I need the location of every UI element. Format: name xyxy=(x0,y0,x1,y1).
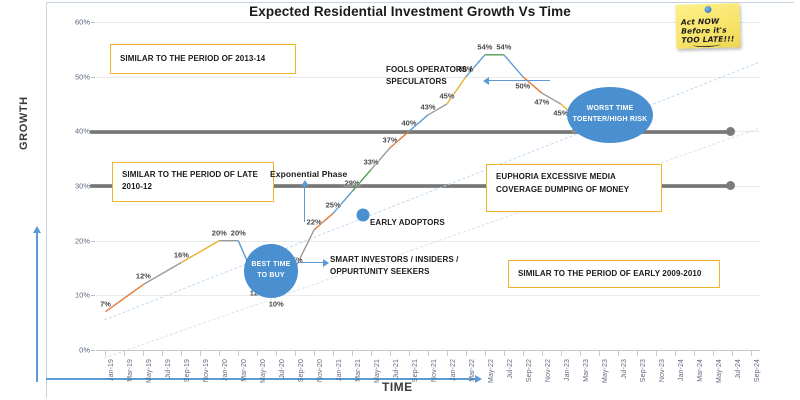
x-tick-mark xyxy=(162,351,163,356)
x-tick-label: Mar-24 xyxy=(697,359,704,382)
x-tick-mark xyxy=(713,351,714,356)
x-tick-label: Jan-22 xyxy=(450,359,457,381)
x-tick-label: May-23 xyxy=(602,359,609,383)
x-tick-label: Mar-23 xyxy=(583,359,590,382)
x-tick-label: Jan-19 xyxy=(108,359,115,381)
data-point-label: 25% xyxy=(326,201,341,210)
x-tick-label: Jan-21 xyxy=(336,359,343,381)
x-tick-label: Jul-24 xyxy=(735,359,742,379)
y-tick-label: 0% xyxy=(79,346,90,355)
x-tick-mark xyxy=(181,351,182,356)
data-point-label: 54% xyxy=(496,42,511,51)
marker-early-adoptors xyxy=(357,209,370,222)
x-tick-label: Jul-23 xyxy=(621,359,628,379)
x-tick-mark xyxy=(143,351,144,356)
connector-fools-operators xyxy=(488,80,550,81)
x-tick-label: Sep-19 xyxy=(184,359,191,382)
y-tick-mark xyxy=(91,295,95,296)
chart-screenshot: Expected Residential Investment Growth V… xyxy=(0,0,800,400)
x-tick-label: Sep-23 xyxy=(640,359,647,382)
x-tick-label: Nov-23 xyxy=(659,359,666,382)
x-tick-mark xyxy=(219,351,220,356)
x-tick-mark xyxy=(447,351,448,356)
support-bar-upper-cap xyxy=(726,127,735,136)
data-point-label: 54% xyxy=(477,42,492,51)
data-point-label: 40% xyxy=(402,119,417,128)
gridline xyxy=(96,241,760,242)
callout-similar-2013-14: SIMILAR TO THE PERIOD OF 2013-14 xyxy=(110,44,296,74)
x-tick-label: Nov-19 xyxy=(203,359,210,382)
gridline xyxy=(96,22,760,23)
x-tick-mark xyxy=(751,351,752,356)
x-tick-mark xyxy=(200,351,201,356)
support-bar-lower-cap xyxy=(726,181,735,190)
x-tick-mark xyxy=(390,351,391,356)
x-tick-label: May-22 xyxy=(488,359,495,383)
growth-axis-arrow xyxy=(36,232,38,382)
sticky-note: Act NOW Before it's TOO LATE!!! xyxy=(675,3,740,49)
data-point-label: 20% xyxy=(231,228,246,237)
y-tick-mark xyxy=(91,22,95,23)
y-tick-label: 40% xyxy=(75,127,90,136)
x-tick-mark xyxy=(618,351,619,356)
y-tick-label: 20% xyxy=(75,236,90,245)
x-tick-label: Jan-24 xyxy=(678,359,685,381)
data-point-label: 10% xyxy=(269,300,284,309)
x-tick-mark xyxy=(124,351,125,356)
data-point-label: 22% xyxy=(307,217,322,226)
x-tick-label: Mar-19 xyxy=(127,359,134,382)
x-tick-label: Jan-20 xyxy=(222,359,229,381)
x-axis-title: TIME xyxy=(382,380,413,394)
pin-icon xyxy=(704,6,711,13)
x-tick-mark xyxy=(485,351,486,356)
x-tick-label: Sep-21 xyxy=(412,359,419,382)
y-tick-label: 50% xyxy=(75,72,90,81)
callout-euphoria: EUPHORIA EXCESSIVE MEDIA COVERAGE DUMPIN… xyxy=(486,164,662,212)
callout-similar-early-2009-2010: SIMILAR TO THE PERIOD OF EARLY 2009-2010 xyxy=(508,260,720,288)
x-tick-mark xyxy=(599,351,600,356)
y-tick-label: 60% xyxy=(75,18,90,27)
x-tick-label: Jul-19 xyxy=(165,359,172,379)
x-tick-mark xyxy=(580,351,581,356)
x-tick-mark xyxy=(276,351,277,356)
x-tick-label: Sep-22 xyxy=(526,359,533,382)
x-tick-label: May-20 xyxy=(260,359,267,383)
x-tick-mark xyxy=(314,351,315,356)
x-tick-label: Mar-22 xyxy=(469,359,476,382)
y-tick-label: 10% xyxy=(75,291,90,300)
x-tick-mark xyxy=(675,351,676,356)
data-point-label: 43% xyxy=(420,102,435,111)
x-tick-label: Jul-21 xyxy=(393,359,400,379)
callout-similar-late-2010-12: SIMILAR TO THE PERIOD OF LATE 2010-12 xyxy=(112,162,274,202)
data-point-label: 16% xyxy=(174,250,189,259)
x-tick-label: Sep-20 xyxy=(298,359,305,382)
x-tick-mark xyxy=(504,351,505,356)
data-point-label: 20% xyxy=(212,228,227,237)
data-point-label: 33% xyxy=(364,157,379,166)
x-tick-mark xyxy=(466,351,467,356)
data-point-label: 37% xyxy=(383,135,398,144)
sticky-note-underline xyxy=(692,42,720,48)
x-tick-label: Nov-21 xyxy=(431,359,438,382)
x-tick-mark xyxy=(295,351,296,356)
connector-exponential-phase xyxy=(304,186,305,222)
x-tick-label: May-21 xyxy=(374,359,381,383)
x-tick-label: Jul-22 xyxy=(507,359,514,379)
x-tick-mark xyxy=(694,351,695,356)
annotation-early-adoptors: EARLY ADOPTORS xyxy=(370,217,445,229)
x-tick-mark xyxy=(333,351,334,356)
x-tick-mark xyxy=(656,351,657,356)
gridline xyxy=(96,295,760,296)
data-point-label: 12% xyxy=(136,272,151,281)
data-point-label: 45% xyxy=(439,92,454,101)
x-tick-mark xyxy=(561,351,562,356)
data-point-label: 47% xyxy=(534,98,549,107)
data-point-label: 50% xyxy=(515,81,530,90)
x-tick-mark xyxy=(428,351,429,356)
x-tick-mark xyxy=(732,351,733,356)
x-tick-mark xyxy=(523,351,524,356)
x-tick-mark xyxy=(542,351,543,356)
x-tick-label: Nov-20 xyxy=(317,359,324,382)
x-tick-mark xyxy=(257,351,258,356)
x-tick-label: Nov-22 xyxy=(545,359,552,382)
annotation-exponential-phase: Exponential Phase xyxy=(270,168,347,180)
connector-smart-investors xyxy=(298,262,324,263)
x-tick-label: Sep-24 xyxy=(754,359,761,382)
y-axis-title: GROWTH xyxy=(18,96,30,150)
bubble-best-time-to-buy: BEST TIME TO BUY xyxy=(244,244,298,298)
x-tick-label: Jan-23 xyxy=(564,359,571,381)
x-axis: Jan-19Mar-19May-19Jul-19Sep-19Nov-19Jan-… xyxy=(96,350,760,353)
y-tick-mark xyxy=(91,77,95,78)
y-tick-mark xyxy=(91,350,95,351)
x-tick-label: May-19 xyxy=(146,359,153,383)
x-tick-mark xyxy=(637,351,638,356)
x-tick-label: Jul-20 xyxy=(279,359,286,379)
x-tick-label: Mar-20 xyxy=(241,359,248,382)
y-tick-label: 30% xyxy=(75,182,90,191)
y-tick-mark xyxy=(91,241,95,242)
annotation-fools-operators: FOOLS OPERATORS / SPECULATORS xyxy=(386,64,472,87)
x-tick-label: May-24 xyxy=(716,359,723,383)
annotation-smart-investors: SMART INVESTORS / INSIDERS / OPPURTUNITY… xyxy=(330,254,458,277)
x-tick-mark xyxy=(105,351,106,356)
x-tick-label: Mar-21 xyxy=(355,359,362,382)
x-tick-mark xyxy=(371,351,372,356)
x-tick-mark xyxy=(238,351,239,356)
data-point-label: 7% xyxy=(100,299,111,308)
bubble-worst-time-to-enter: WORST TIME TOENTER/HIGH RISK xyxy=(567,87,653,143)
page-title: Expected Residential Investment Growth V… xyxy=(200,4,620,19)
x-tick-mark xyxy=(409,351,410,356)
x-tick-mark xyxy=(352,351,353,356)
